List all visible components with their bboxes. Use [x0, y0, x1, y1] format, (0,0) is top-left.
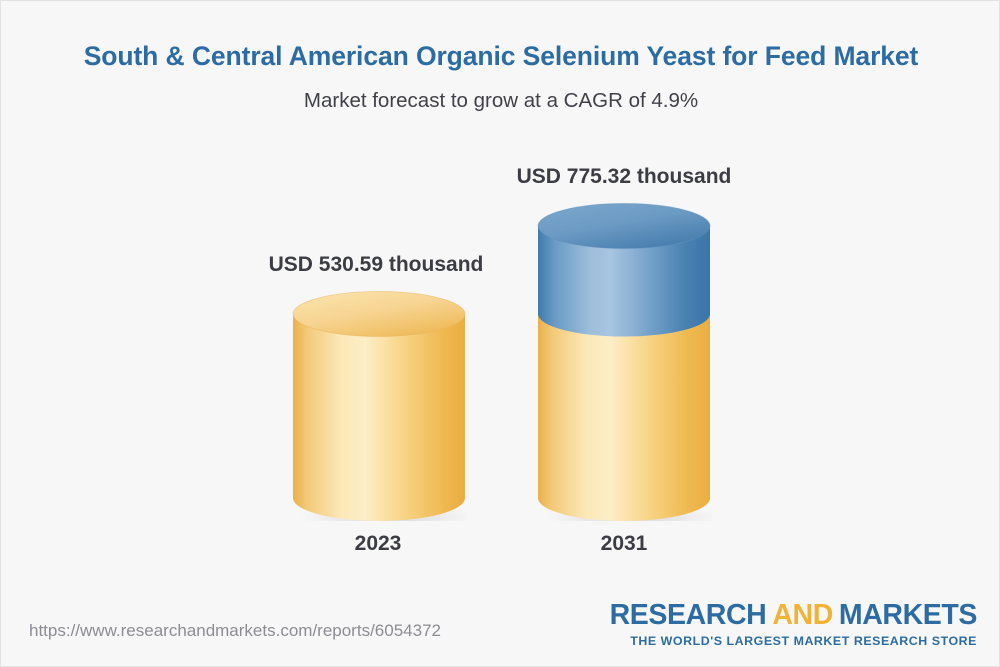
category-label-2031: 2031 — [439, 532, 809, 556]
research-and-markets-logo: RESEARCHANDMARKETS THE WORLD'S LARGEST M… — [610, 601, 977, 647]
chart-canvas: South & Central American Organic Seleniu… — [0, 0, 1000, 667]
report-url[interactable]: https://www.researchandmarkets.com/repor… — [29, 621, 441, 641]
page-title: South & Central American Organic Seleniu… — [1, 41, 1000, 72]
bar-cylinder-2023 — [291, 291, 467, 521]
logo-word-and: AND — [772, 599, 833, 631]
logo-tagline: THE WORLD'S LARGEST MARKET RESEARCH STOR… — [610, 635, 977, 647]
logo-word-markets: MARKETS — [839, 599, 977, 631]
logo-wordmark: RESEARCHANDMARKETS — [610, 601, 977, 630]
data-label-2031: USD 775.32 thousand — [439, 165, 809, 189]
chart-subtitle: Market forecast to grow at a CAGR of 4.9… — [1, 89, 1000, 113]
logo-word-research: RESEARCH — [610, 599, 767, 631]
data-label-2023: USD 530.59 thousand — [191, 253, 561, 277]
bar-cylinder-2031 — [536, 203, 712, 521]
